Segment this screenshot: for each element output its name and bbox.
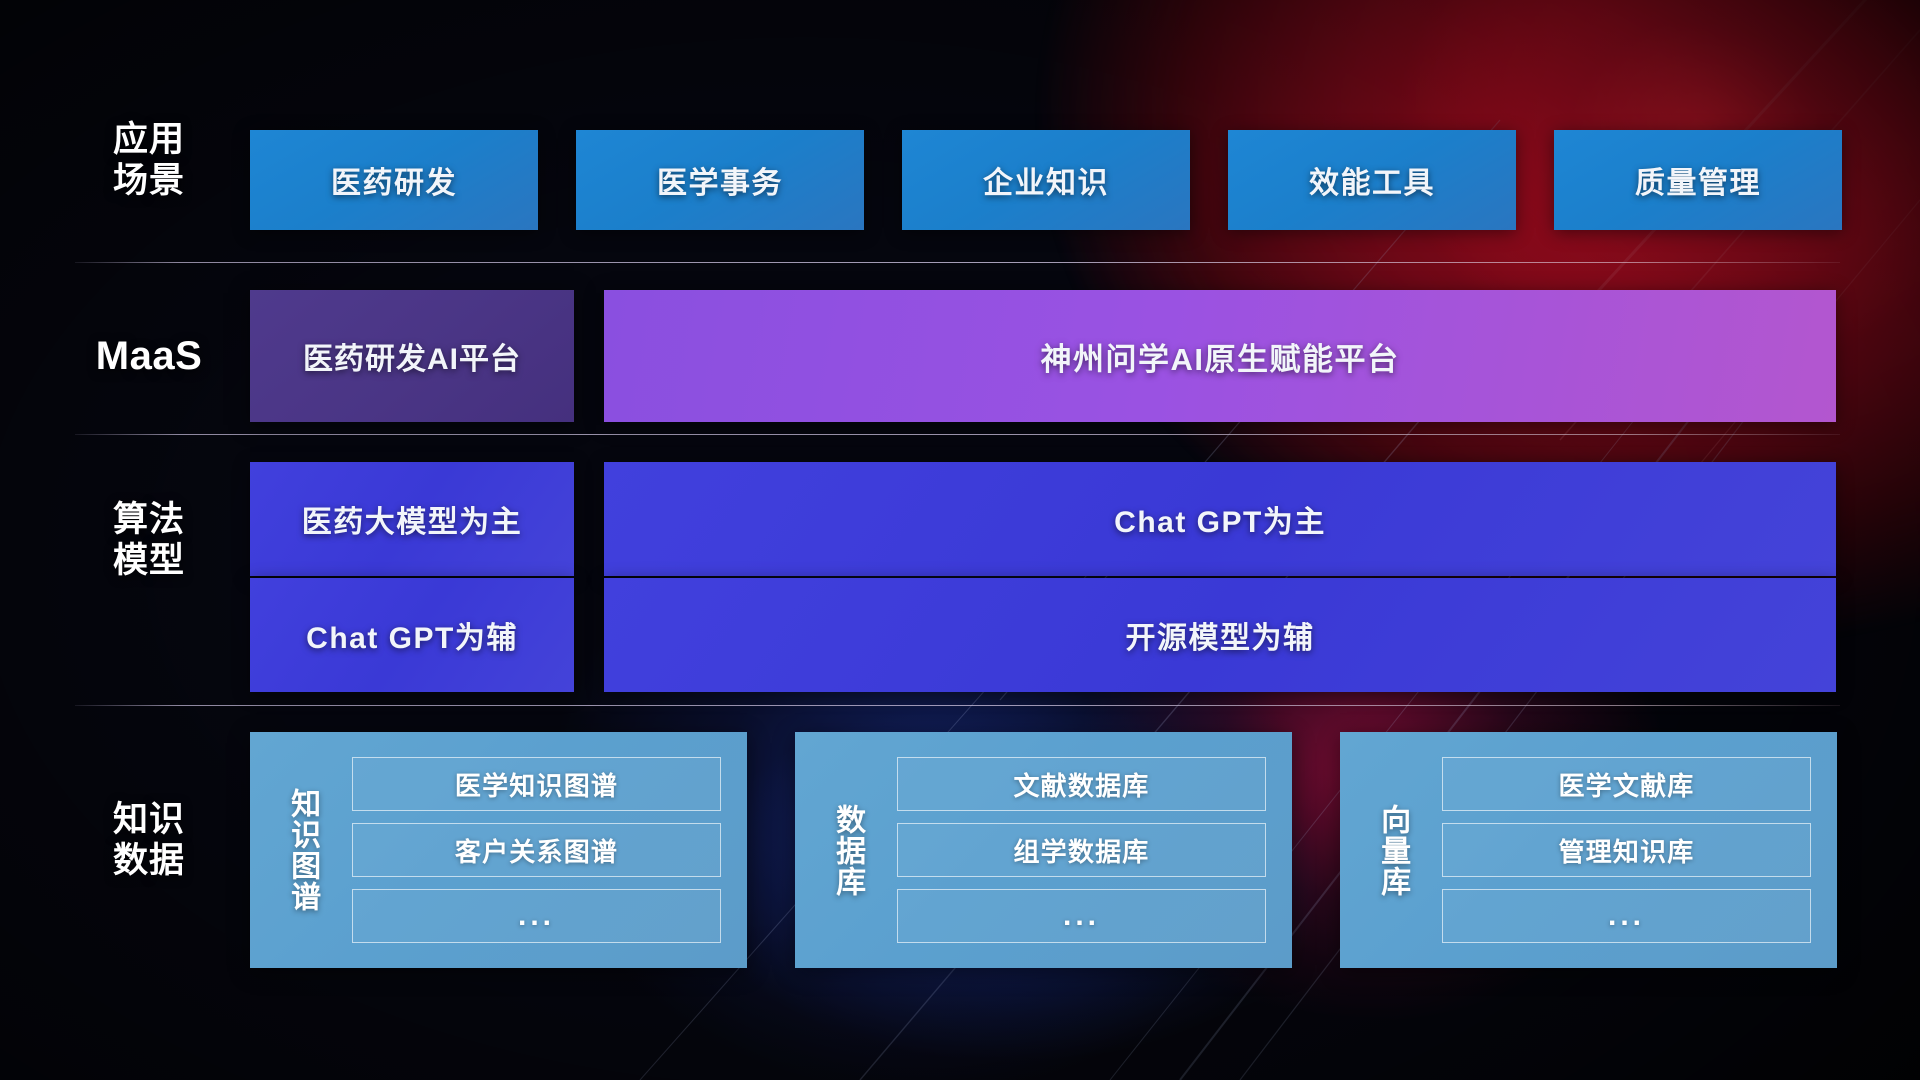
maas-card-native-platform[interactable]: 神州问学AI原生赋能平台 — [604, 290, 1836, 422]
maas-label: 神州问学AI原生赋能平台 — [1041, 334, 1400, 379]
knowledge-item[interactable]: 医学文献库 — [1442, 757, 1811, 811]
knowledge-group-knowledge-graph[interactable]: 知识图谱 医学知识图谱 客户关系图谱 ... — [250, 732, 747, 968]
knowledge-item[interactable]: 医学知识图谱 — [352, 757, 721, 811]
knowledge-item[interactable]: 文献数据库 — [897, 757, 1266, 811]
architecture-diagram: 应用 场景 MaaS 算法 模型 知识 数据 医药研发 医学事务 企业知识 效能… — [0, 0, 1920, 1080]
algorithm-label: 开源模型为辅 — [1126, 613, 1315, 657]
algorithm-label: 医药大模型为主 — [302, 497, 523, 541]
algorithm-card-primary-right[interactable]: Chat GPT为主 — [604, 462, 1836, 576]
row-label-line: 数据 — [84, 841, 214, 882]
app-scenario-card-5[interactable]: 质量管理 — [1554, 130, 1842, 230]
app-scenario-label: 医学事务 — [657, 158, 783, 202]
app-scenario-card-1[interactable]: 医药研发 — [250, 130, 538, 230]
knowledge-group-vector-store[interactable]: 向量库 医学文献库 管理知识库 ... — [1340, 732, 1837, 968]
knowledge-group-database[interactable]: 数据库 文献数据库 组学数据库 ... — [795, 732, 1292, 968]
knowledge-group-title: 向量库 — [1340, 732, 1428, 968]
app-scenario-card-3[interactable]: 企业知识 — [902, 130, 1190, 230]
algorithm-label: Chat GPT为辅 — [306, 613, 518, 657]
knowledge-item-more[interactable]: ... — [352, 889, 721, 943]
row-label-line: 场景 — [84, 161, 214, 202]
knowledge-item-list: 医学文献库 管理知识库 ... — [1428, 732, 1837, 968]
row-label-knowledge-data: 知识 数据 — [84, 800, 214, 881]
algorithm-card-primary-left[interactable]: 医药大模型为主 — [250, 462, 574, 576]
app-scenario-label: 医药研发 — [331, 158, 457, 202]
divider-line-3 — [75, 705, 1840, 706]
divider-line-1 — [75, 262, 1840, 263]
algorithm-card-secondary-right[interactable]: 开源模型为辅 — [604, 578, 1836, 692]
knowledge-group-title: 数据库 — [795, 732, 883, 968]
knowledge-item-list: 文献数据库 组学数据库 ... — [883, 732, 1292, 968]
app-scenario-label: 质量管理 — [1635, 158, 1761, 202]
row-label-algorithm-models: 算法 模型 — [84, 500, 214, 581]
app-scenario-label: 企业知识 — [983, 158, 1109, 202]
knowledge-item-list: 医学知识图谱 客户关系图谱 ... — [338, 732, 747, 968]
maas-label: 医药研发AI平台 — [303, 334, 521, 378]
algorithm-card-secondary-left[interactable]: Chat GPT为辅 — [250, 578, 574, 692]
app-scenario-card-2[interactable]: 医学事务 — [576, 130, 864, 230]
knowledge-item-more[interactable]: ... — [897, 889, 1266, 943]
knowledge-item[interactable]: 组学数据库 — [897, 823, 1266, 877]
app-scenario-card-4[interactable]: 效能工具 — [1228, 130, 1516, 230]
row-label-line: 应用 — [84, 120, 214, 161]
row-label-line: 模型 — [84, 541, 214, 582]
row-label-application-scenarios: 应用 场景 — [84, 120, 214, 201]
divider-line-2 — [75, 434, 1840, 435]
row-label-line: 算法 — [84, 500, 214, 541]
row-label-line: 知识 — [84, 800, 214, 841]
knowledge-item[interactable]: 管理知识库 — [1442, 823, 1811, 877]
algorithm-label: Chat GPT为主 — [1114, 497, 1326, 541]
knowledge-item-more[interactable]: ... — [1442, 889, 1811, 943]
knowledge-item[interactable]: 客户关系图谱 — [352, 823, 721, 877]
knowledge-group-title: 知识图谱 — [250, 732, 338, 968]
maas-card-pharma-platform[interactable]: 医药研发AI平台 — [250, 290, 574, 422]
row-label-maas: MaaS — [84, 333, 214, 379]
app-scenario-label: 效能工具 — [1309, 158, 1435, 202]
